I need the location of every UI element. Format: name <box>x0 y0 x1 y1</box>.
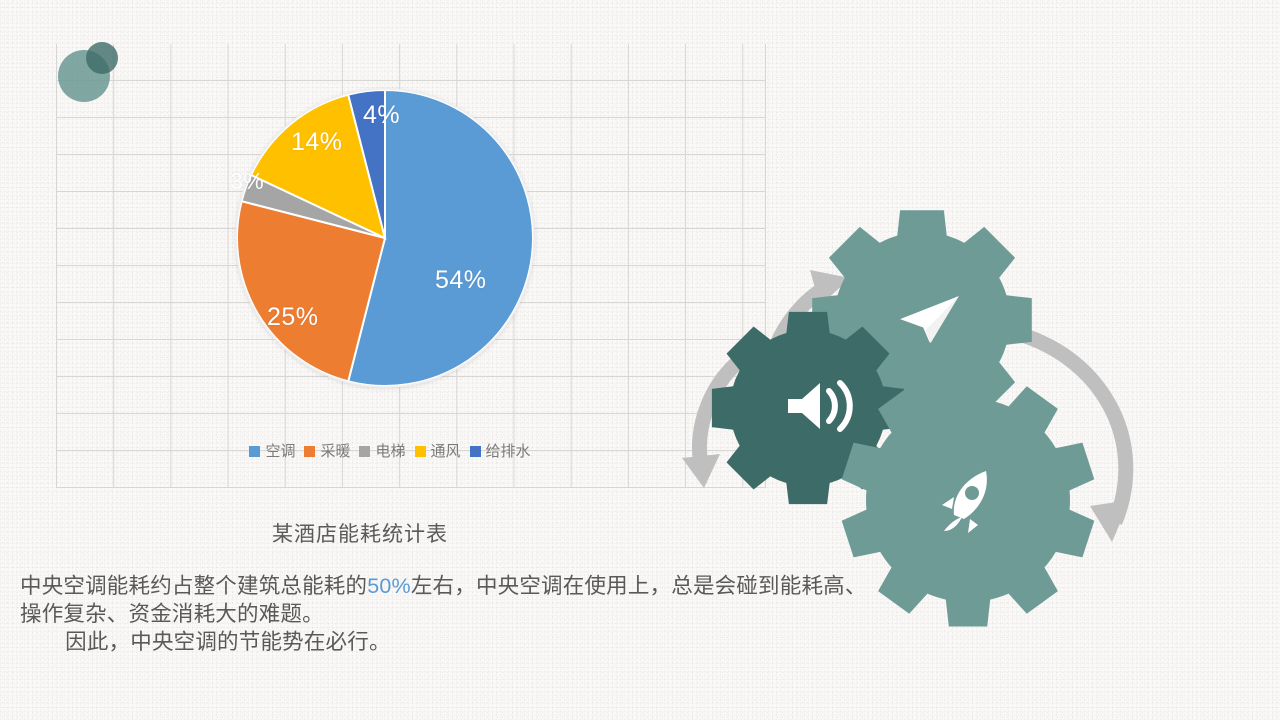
legend-label: 通风 <box>431 444 461 459</box>
legend-label: 给排水 <box>486 444 531 459</box>
overlapping-circles-logo <box>58 42 118 102</box>
chart-caption: 某酒店能耗统计表 <box>180 518 540 548</box>
gear-cluster-illustration <box>660 170 1280 650</box>
legend-label: 电梯 <box>375 444 405 459</box>
legend-item-1[interactable]: 采暖 <box>304 444 350 459</box>
pie-chart: 54% 25% 3% 14% 4% <box>235 88 535 388</box>
legend-item-2[interactable]: 电梯 <box>359 444 405 459</box>
legend-label: 采暖 <box>320 444 350 459</box>
legend-swatch-icon <box>359 446 370 457</box>
legend-item-0[interactable]: 空调 <box>249 444 295 459</box>
pie-label-dianti: 3% <box>230 168 264 195</box>
legend-swatch-icon <box>304 446 315 457</box>
pie-label-jipaishui: 4% <box>363 101 400 130</box>
body-line1-part-a: 中央空调能耗约占整个建筑总能耗的 <box>20 574 367 598</box>
legend-swatch-icon <box>415 446 426 457</box>
pie-chart-svg <box>235 88 535 388</box>
slide-canvas: 54% 25% 3% 14% 4% 空调采暖电梯通风给排水 某酒店能耗统计表 中… <box>0 0 1280 720</box>
pie-label-kongtiao: 54% <box>435 266 487 295</box>
pie-label-tongfeng: 14% <box>291 128 343 157</box>
pie-label-cainuan: 25% <box>267 303 319 332</box>
logo-circle-front <box>86 42 118 74</box>
body-highlight-50: 50% <box>367 574 411 598</box>
legend-item-4[interactable]: 给排水 <box>470 444 531 459</box>
legend-label: 空调 <box>265 444 295 459</box>
legend-swatch-icon <box>249 446 260 457</box>
legend-swatch-icon <box>470 446 481 457</box>
legend-item-3[interactable]: 通风 <box>415 444 461 459</box>
chart-legend: 空调采暖电梯通风给排水 <box>205 440 575 462</box>
